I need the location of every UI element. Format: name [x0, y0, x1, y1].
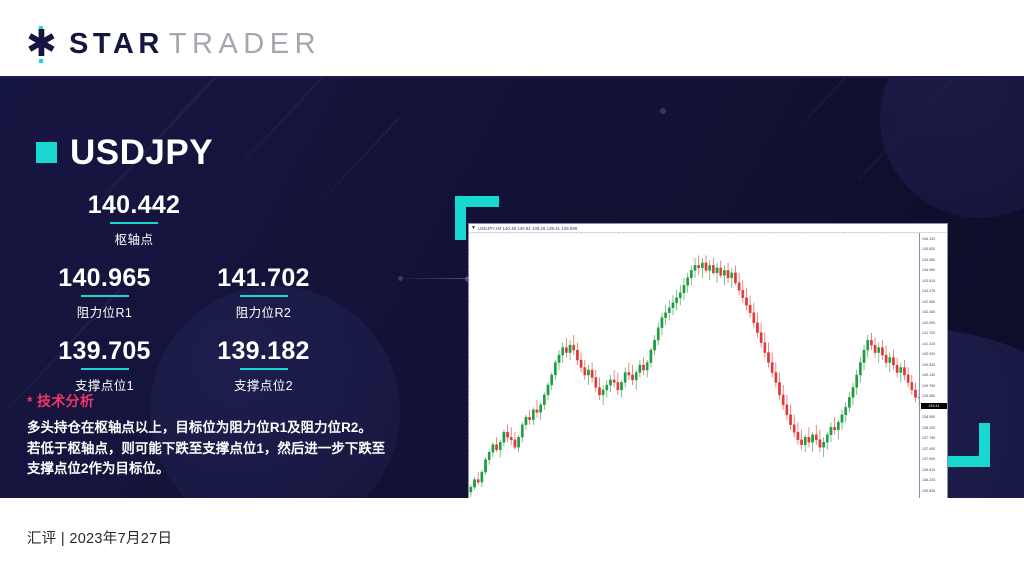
level-r2-value: 141.702 — [195, 264, 332, 292]
level-underline — [81, 295, 129, 297]
price-axis: 146.120145.820144.660144.050143.610143.2… — [919, 233, 947, 498]
price-tick: 135.830 — [922, 489, 935, 493]
infographic-page: ✱ STAR TRADER — [0, 0, 1024, 576]
level-s2: 139.182 支撑点位2 — [195, 337, 332, 394]
page-title: USDJPY — [70, 135, 213, 170]
level-s1-value: 139.705 — [36, 337, 173, 365]
level-pivot-value: 140.442 — [36, 191, 232, 219]
price-tick: 144.660 — [922, 258, 935, 262]
decor-dot-3 — [660, 108, 666, 114]
brand-name-bold: STAR — [69, 28, 164, 61]
price-tick: 141.700 — [922, 331, 935, 335]
price-tick: 142.090 — [922, 321, 935, 325]
price-tick: 137.009 — [922, 457, 935, 461]
technical-analysis-block: * 技术分析 多头持仓在枢轴点以上，目标位为阻力位R1及阻力位R2。 若低于枢轴… — [27, 391, 407, 480]
level-s1: 139.705 支撑点位1 — [36, 337, 173, 394]
price-tick: 142.480 — [922, 310, 935, 314]
price-tick: 136.610 — [922, 468, 935, 472]
level-r1: 140.965 阻力位R1 — [36, 264, 173, 321]
price-tick: 140.140 — [922, 373, 935, 377]
instrument-heading: USDJPY — [36, 135, 213, 170]
logo-star-glyph: ✱ — [26, 30, 56, 60]
decor-streak-2 — [228, 78, 332, 179]
corner-bracket-bottom-right — [946, 423, 990, 467]
asterisk-star-icon: ✱ — [26, 27, 60, 61]
level-r1-label: 阻力位R1 — [36, 302, 173, 321]
level-pivot-label: 枢轴点 — [36, 229, 232, 248]
dark-stage: USDJPY 140.442 枢轴点 140.965 阻力位R1 141.702 — [0, 78, 1024, 498]
level-underline — [240, 368, 288, 370]
resistance-row: 140.965 阻力位R1 141.702 阻力位R2 — [36, 264, 386, 337]
level-s2-value: 139.182 — [195, 337, 332, 365]
price-tick: 137.400 — [922, 447, 935, 451]
current-price-marker: 139.41 — [921, 403, 947, 409]
analysis-line-3: 支撑点位2作为目标位。 — [27, 459, 407, 480]
price-tick: 140.920 — [922, 352, 935, 356]
brand-name-light: TRADER — [169, 28, 321, 61]
footer-caption: 汇评 | 2023年7月27日 — [27, 527, 172, 548]
logo-accent-dot-bottom — [39, 59, 43, 63]
level-underline — [240, 295, 288, 297]
level-underline — [110, 222, 158, 224]
level-r1-value: 140.965 — [36, 264, 173, 292]
price-tick: 137.790 — [922, 436, 935, 440]
price-tick: 143.610 — [922, 279, 935, 283]
decor-line-1 — [395, 278, 473, 279]
level-underline — [81, 368, 129, 370]
level-pivot: 140.442 枢轴点 — [36, 191, 232, 248]
price-tick: 145.820 — [922, 247, 935, 251]
pivot-row: 140.442 枢轴点 — [36, 191, 386, 264]
price-chart-window[interactable]: ▼ USDJPY,H4 140.48 140.84 139.26 139.41 … — [468, 223, 948, 498]
accent-square-icon — [36, 142, 57, 163]
price-tick: 141.310 — [922, 342, 935, 346]
pivot-levels: 140.442 枢轴点 140.965 阻力位R1 141.702 阻力位R2 — [36, 191, 386, 410]
price-tick: 139.360 — [922, 394, 935, 398]
price-tick: 144.050 — [922, 268, 935, 272]
decor-orb-topright — [880, 78, 1024, 218]
price-tick: 142.880 — [922, 300, 935, 304]
chart-title-text: USDJPY,H4 140.48 140.84 139.26 139.41 13… — [478, 226, 577, 231]
page-header: ✱ STAR TRADER — [0, 0, 1024, 78]
price-tick: 136.220 — [922, 478, 935, 482]
analysis-line-2: 若低于枢轴点，则可能下跌至支撑点位1，然后进一步下跌至 — [27, 439, 407, 460]
page-footer: 汇评 | 2023年7月27日 — [0, 498, 1024, 576]
price-tick: 138.590 — [922, 415, 935, 419]
analysis-line-1: 多头持仓在枢轴点以上，目标位为阻力位R1及阻力位R2。 — [27, 418, 407, 439]
price-tick: 140.530 — [922, 363, 935, 367]
header-divider — [0, 76, 1024, 78]
chart-window-icon: ▼ — [471, 226, 476, 231]
analysis-title: * 技术分析 — [27, 391, 407, 411]
candlestick-plot[interactable] — [469, 233, 921, 498]
chart-titlebar: ▼ USDJPY,H4 140.48 140.84 139.26 139.41 … — [469, 224, 947, 233]
price-tick: 146.120 — [922, 237, 935, 241]
candlestick-series — [469, 233, 921, 498]
price-tick: 139.750 — [922, 384, 935, 388]
level-r2-label: 阻力位R2 — [195, 302, 332, 321]
level-r2: 141.702 阻力位R2 — [195, 264, 332, 321]
price-tick: 143.270 — [922, 289, 935, 293]
price-tick: 138.200 — [922, 426, 935, 430]
brand-logo: ✱ STAR TRADER — [26, 27, 321, 61]
